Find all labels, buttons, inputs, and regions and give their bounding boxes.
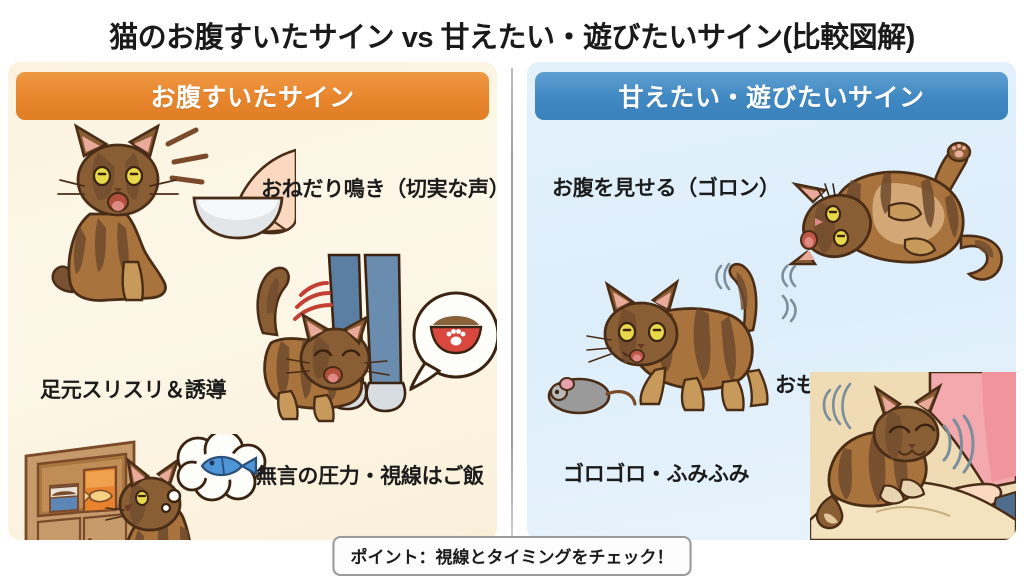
page-title: 猫のお腹すいたサイン vs 甘えたい・遊びたいサイン(比較図解): [0, 14, 1024, 56]
infographic-root: 猫のお腹すいたサイン vs 甘えたい・遊びたいサイン(比較図解) お腹すいたサイ…: [0, 0, 1024, 576]
panel-hungry-signs: お腹すいたサイン: [8, 62, 497, 540]
panel-header-hungry-text: お腹すいたサイン: [150, 78, 354, 114]
panel-affection-signs: 甘えたい・遊びたいサイン お腹を見せる（ゴロン）: [527, 62, 1016, 540]
cat-staring-at-cabinet: [16, 434, 276, 540]
panel-divider: [511, 68, 513, 538]
label-silent-stare: 無言の圧力・視線はご飯: [256, 460, 484, 490]
label-begging-meow: おねだり鳴き（切実な声）: [261, 173, 497, 203]
cat-rubbing-legs: [253, 247, 497, 447]
cat-rolling-belly-up: [779, 140, 1016, 300]
footer-point-badge: ポイント：視線とタイミングをチェック！: [333, 536, 692, 576]
panel-header-affection-text: 甘えたい・遊びたいサイン: [618, 78, 924, 114]
panel-header-affection: 甘えたい・遊びたいサイン: [535, 72, 1008, 120]
cat-kneading-on-person: [810, 372, 1016, 540]
label-show-belly: お腹を見せる（ゴロン）: [552, 172, 780, 202]
label-leg-rubbing: 足元スリスリ＆誘導: [40, 374, 226, 404]
cat-with-toy-mouse: [545, 252, 805, 422]
label-purr-knead: ゴロゴロ・ふみふみ: [563, 458, 749, 488]
panel-header-hungry: お腹すいたサイン: [16, 72, 489, 120]
